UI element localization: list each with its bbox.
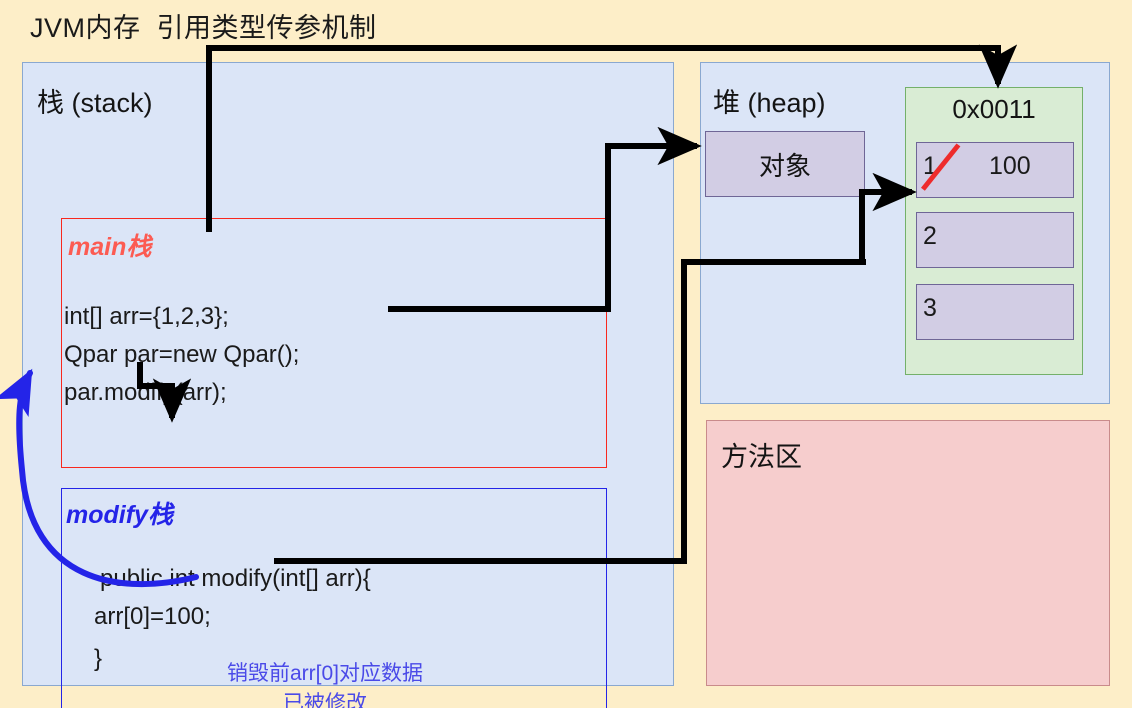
array-cell-index: 3 xyxy=(923,294,937,323)
heap-object-box: 对象 xyxy=(705,131,865,197)
main-code-line-3: par.modify(arr); xyxy=(64,379,227,407)
heap-region: 堆 (heap) 对象 0x0011 1 100 2 3 xyxy=(700,62,1110,404)
stack-region-label: 栈 (stack) xyxy=(37,81,153,120)
array-cell: 3 xyxy=(916,284,1074,340)
modify-code-line-3: } xyxy=(94,645,102,673)
heap-object-label: 对象 xyxy=(759,146,811,183)
jvm-memory-diagram: JVM内存 引用类型传参机制 栈 (stack) main栈 int[] arr… xyxy=(0,0,1132,708)
array-cell: 2 xyxy=(916,212,1074,268)
main-code-line-2: Qpar par=new Qpar(); xyxy=(64,341,299,369)
main-stack-frame: main栈 int[] arr={1,2,3}; Qpar par=new Qp… xyxy=(61,218,607,468)
page-title: JVM内存 引用类型传参机制 xyxy=(30,6,377,45)
heap-region-label: 堆 (heap) xyxy=(713,81,826,120)
modify-frame-annotation: 销毁前arr[0]对应数据 已被修改 xyxy=(160,659,490,708)
modify-stack-frame-label: modify栈 xyxy=(66,495,173,531)
array-cell-index: 2 xyxy=(923,222,937,251)
modify-code-line-1: public int modify(int[] arr){ xyxy=(100,565,371,593)
method-area-label: 方法区 xyxy=(721,435,802,474)
modify-code-line-2: arr[0]=100; xyxy=(94,603,211,631)
array-cell: 1 100 xyxy=(916,142,1074,198)
method-area-region: 方法区 xyxy=(706,420,1110,686)
array-cell-value: 100 xyxy=(989,152,1031,181)
stack-region: 栈 (stack) main栈 int[] arr={1,2,3}; Qpar … xyxy=(22,62,674,686)
array-cell-index: 1 xyxy=(923,152,937,181)
modify-stack-frame: modify栈 public int modify(int[] arr){ ar… xyxy=(61,488,607,708)
main-stack-frame-label: main栈 xyxy=(68,227,151,263)
array-address-label: 0x0011 xyxy=(906,94,1082,125)
main-code-line-1: int[] arr={1,2,3}; xyxy=(64,303,229,331)
heap-array-box: 0x0011 1 100 2 3 xyxy=(905,87,1083,375)
